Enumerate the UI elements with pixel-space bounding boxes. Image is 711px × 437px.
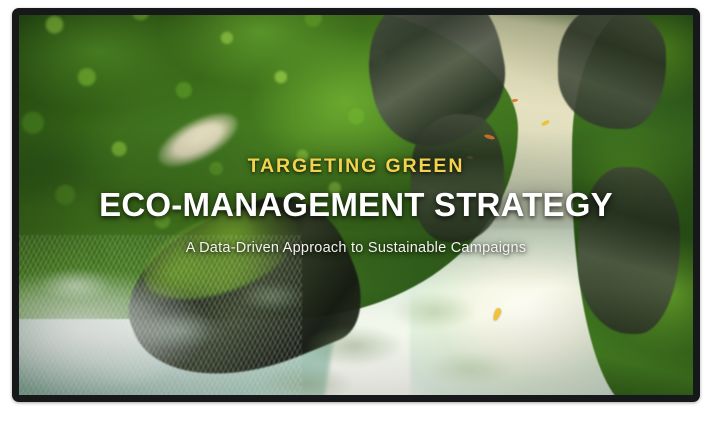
page-title: ECO-MANAGEMENT STRATEGY [12,186,700,225]
eyebrow-title: TARGETING GREEN [12,156,700,177]
subtitle: A Data-Driven Approach to Sustainable Ca… [12,240,700,257]
title-block: TARGETING GREEN ECO-MANAGEMENT STRATEGY … [12,156,700,258]
slide-frame: TARGETING GREEN ECO-MANAGEMENT STRATEGY … [12,8,700,402]
